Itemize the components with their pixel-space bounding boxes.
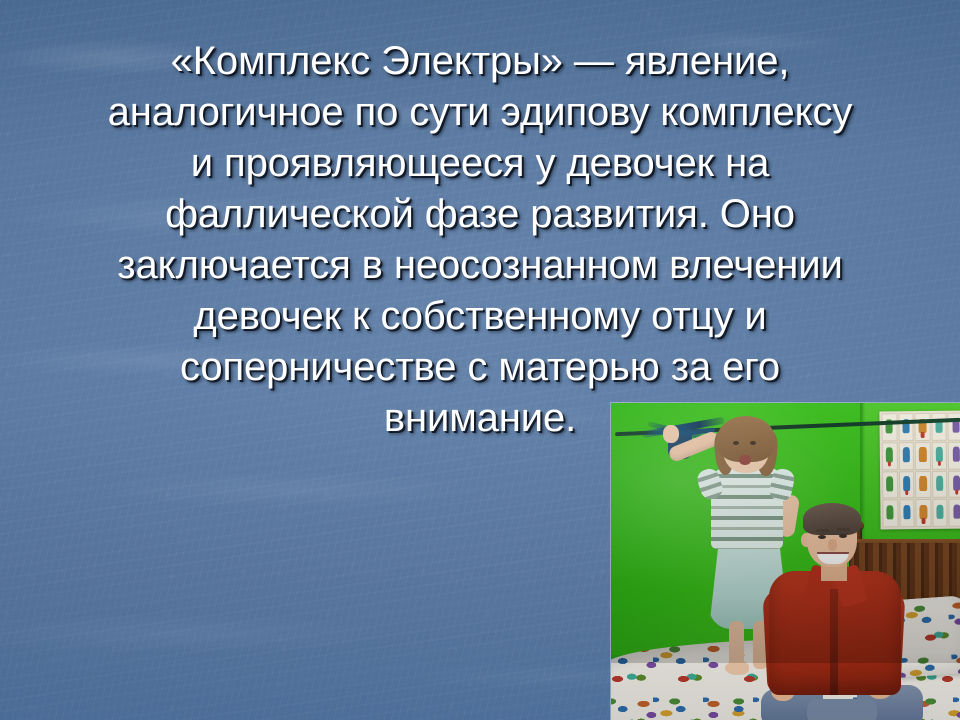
girl-foot bbox=[725, 661, 749, 675]
presentation-slide: «Комплекс Электры» — явление, аналогично… bbox=[0, 0, 960, 720]
slide-body-text: «Комплекс Электры» — явление, аналогично… bbox=[56, 36, 904, 444]
body-line-1: «Комплекс Электры» — явление, bbox=[56, 36, 904, 87]
body-line-5: заключается в неосознанном влечении bbox=[56, 240, 904, 291]
body-line-3: и проявляющееся у девочек на bbox=[56, 138, 904, 189]
photo-wall-shading bbox=[611, 403, 960, 663]
man-legs bbox=[807, 699, 877, 720]
body-line-2: аналогичное по сути эдипову комплексу bbox=[56, 87, 904, 138]
slide-photo bbox=[611, 403, 960, 720]
body-line-7: соперничестве с матерью за его bbox=[56, 342, 904, 393]
body-line-4: фаллической фазе развития. Оно bbox=[56, 189, 904, 240]
body-line-6: девочек к собственному отцу и bbox=[56, 291, 904, 342]
